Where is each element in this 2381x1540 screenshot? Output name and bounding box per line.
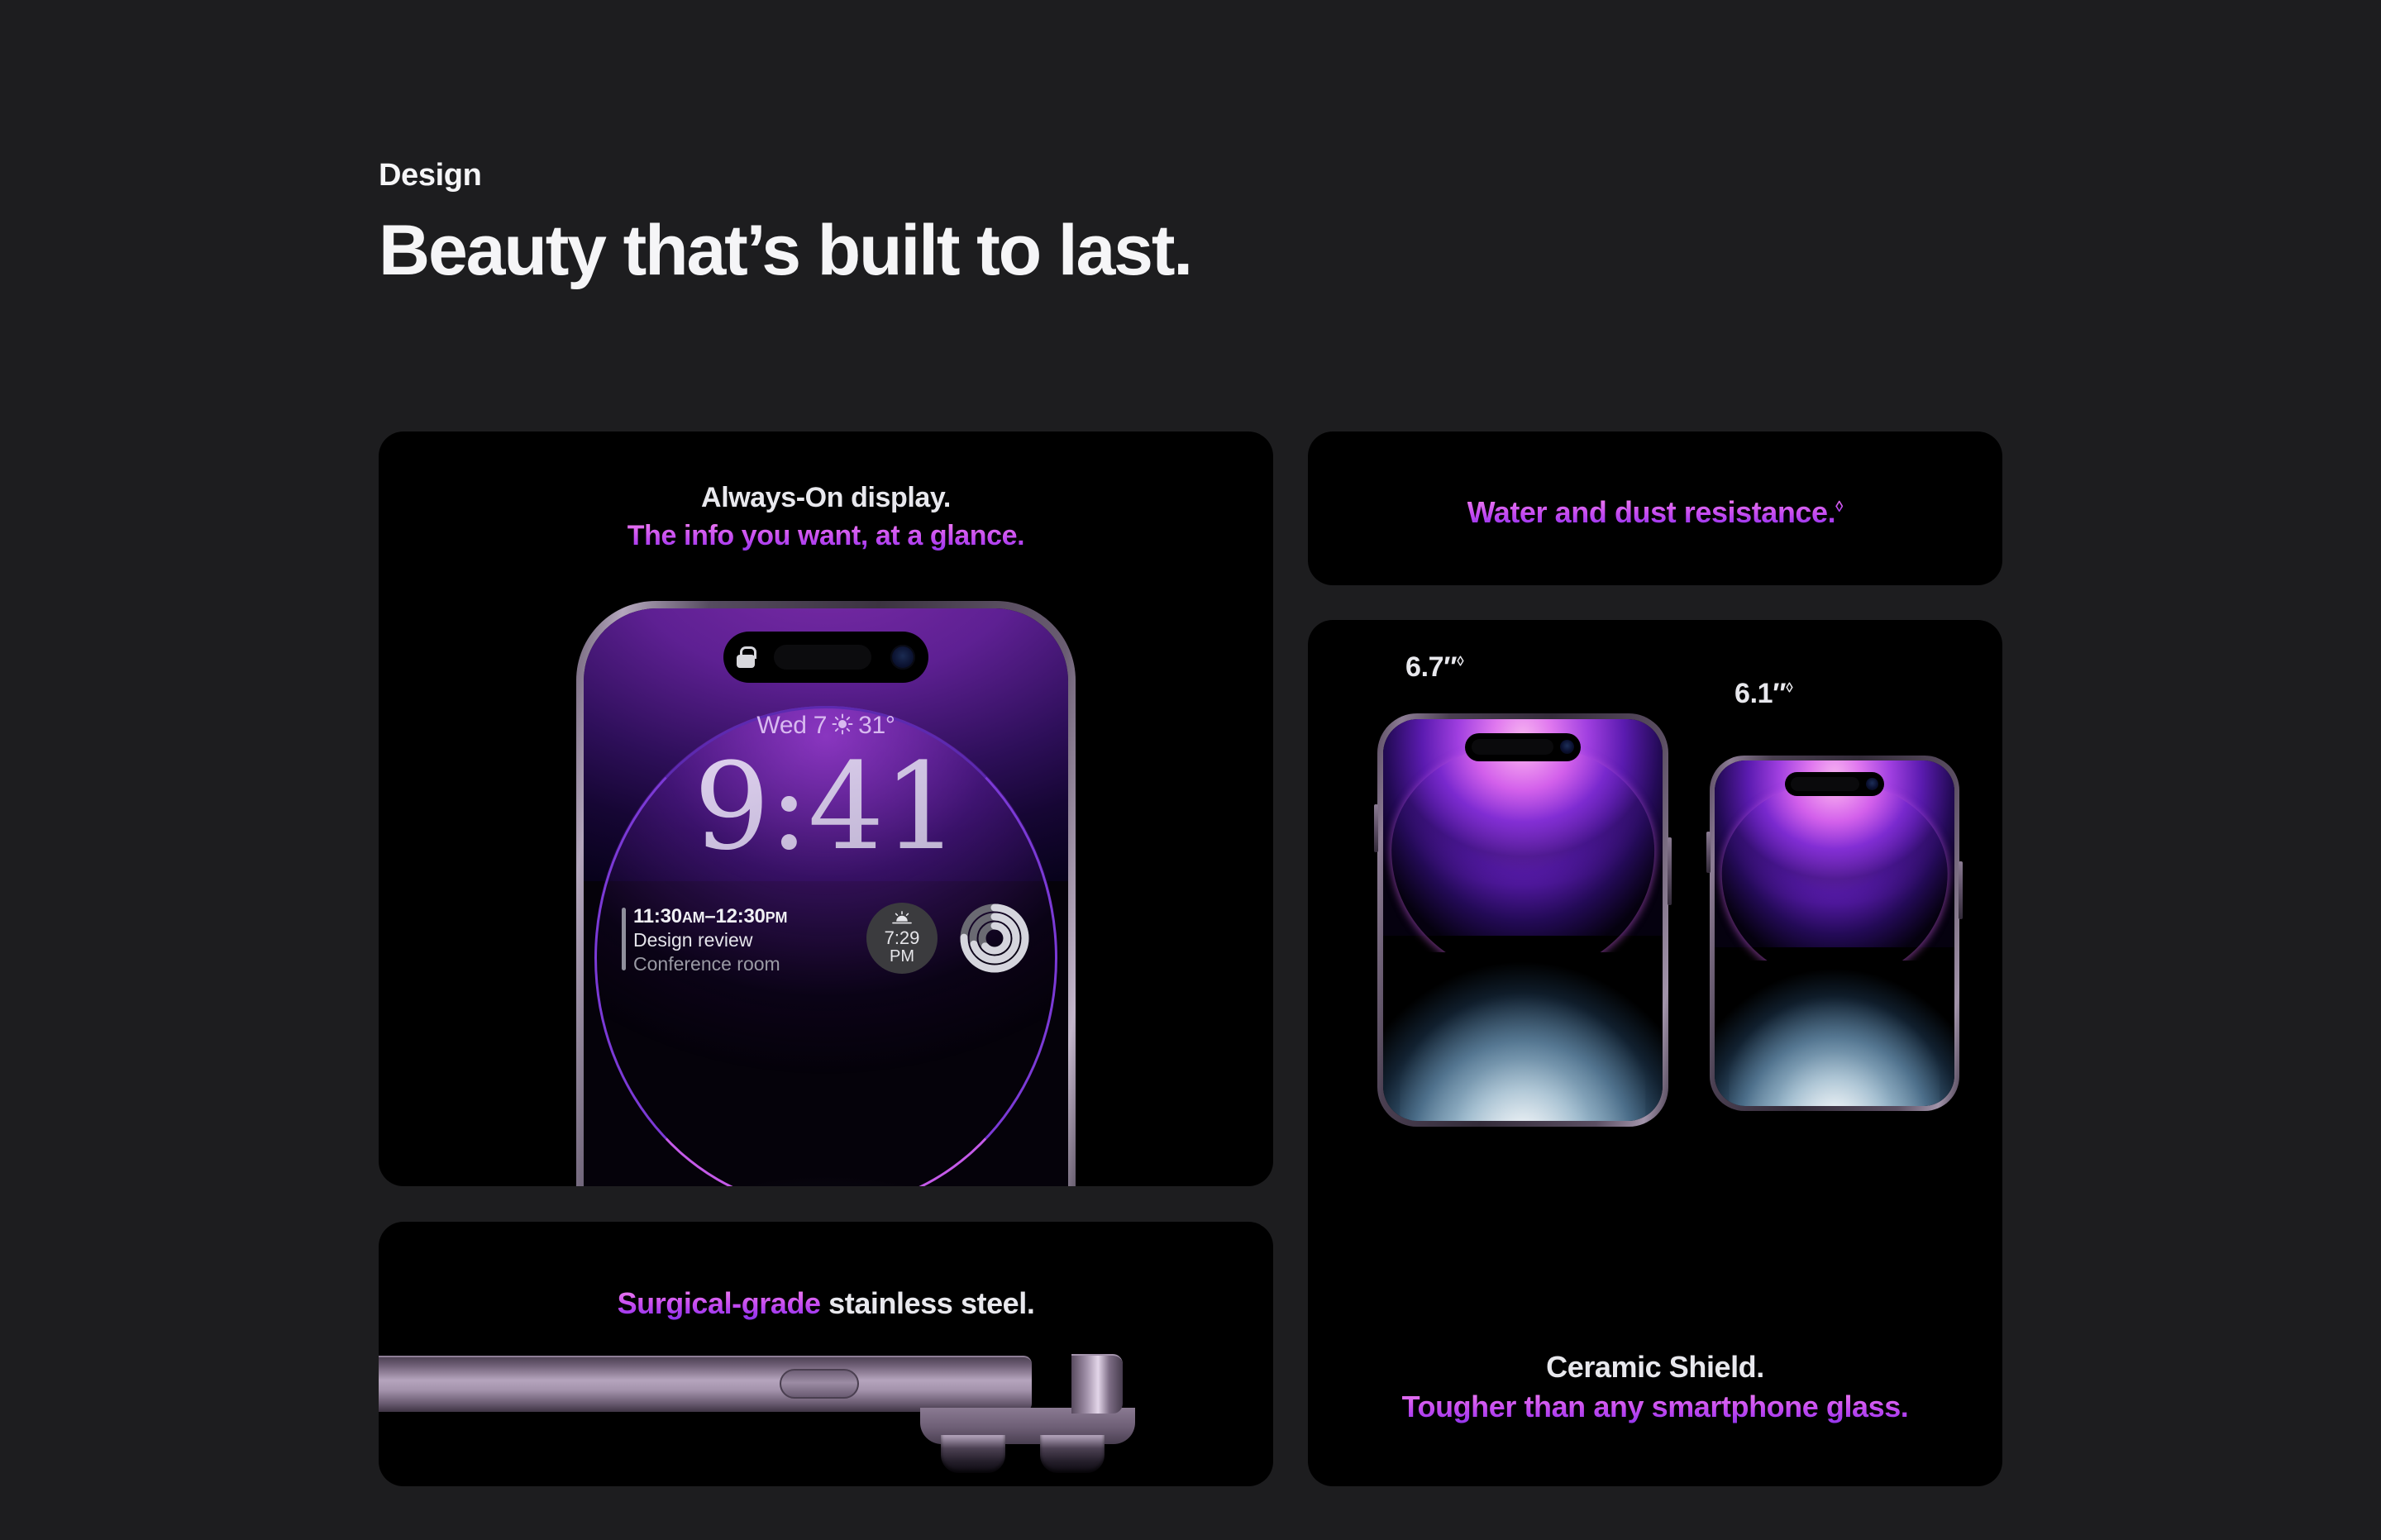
feature-card-grid: Always-On display. The info you want, at… [379, 431, 2002, 1486]
phone-corner-edge [1071, 1354, 1123, 1414]
iphone-screen: Wed 731° 9:41 11:30AM–12:30PM Design rev… [584, 608, 1068, 1186]
calendar-time-separator: – [704, 905, 715, 927]
stainless-steel-caption: Surgical-grade stainless steel. [379, 1284, 1273, 1323]
island-sensor-pill-small [1791, 777, 1859, 791]
dynamic-island [723, 632, 928, 683]
camera-lens-1 [941, 1435, 1005, 1473]
iphone-frame: Wed 731° 9:41 11:30AM–12:30PM Design rev… [576, 601, 1076, 1186]
phone-side-band [379, 1356, 1032, 1412]
lockscreen-temperature: 31° [858, 712, 895, 739]
calendar-widget[interactable]: 11:30AM–12:30PM Design review Conference… [622, 904, 787, 975]
calendar-start-ampm: AM [682, 909, 705, 926]
water-dust-resistance-caption: Water and dust resistance.◊ [1308, 493, 2002, 532]
iphone-pro-max-device [1377, 713, 1668, 1127]
calendar-end-ampm: PM [766, 909, 788, 926]
iphone-pro-max-screen [1383, 719, 1663, 1121]
lockscreen-widget-row: 11:30AM–12:30PM Design review Conference… [622, 903, 1030, 974]
caption-line-1: Ceramic Shield. [1308, 1347, 2002, 1387]
volume-button [780, 1369, 859, 1399]
sunset-widget[interactable]: 7:29 PM [866, 903, 938, 974]
display-size-labels: 6.7″◊ 6.1″◊ [1308, 620, 2002, 727]
side-button-small [1706, 832, 1711, 873]
calendar-end-time: 12:30 [715, 905, 765, 927]
calendar-start-time: 11:30 [633, 905, 682, 927]
ceramic-shield-card[interactable]: 6.7″◊ 6.1″◊ [1308, 620, 2002, 1486]
water-dust-resistance-card[interactable]: Water and dust resistance.◊ [1308, 431, 2002, 585]
caption-rest: stainless steel. [821, 1286, 1035, 1320]
caption-highlight: Surgical-grade [618, 1286, 821, 1320]
iphone-pro-screen [1715, 760, 1954, 1106]
camera-lens-2 [1040, 1435, 1105, 1473]
calendar-event-location: Conference room [633, 952, 787, 976]
always-on-phone-image: Wed 731° 9:41 11:30AM–12:30PM Design rev… [379, 584, 1273, 1186]
footnote-marker-small[interactable]: ◊ [1786, 679, 1792, 695]
stainless-steel-card[interactable]: Surgical-grade stainless steel. [379, 1222, 1273, 1486]
footnote-marker[interactable]: ◊ [1835, 498, 1843, 515]
sunset-icon [891, 911, 913, 929]
front-camera-icon [890, 645, 915, 670]
caption-line-2: Tougher than any smartphone glass. [1308, 1387, 2002, 1427]
size-value-large: 6.7″ [1405, 651, 1457, 683]
lockscreen-date: Wed 7 [756, 712, 827, 739]
calendar-time-range: 11:30AM–12:30PM [633, 904, 787, 928]
dynamic-island-large [1465, 733, 1581, 761]
always-on-display-card[interactable]: Always-On display. The info you want, at… [379, 431, 1273, 1186]
page-header: Design Beauty that’s built to last. [379, 157, 1191, 288]
section-eyebrow: Design [379, 157, 1191, 195]
lock-icon [737, 646, 755, 668]
display-size-large: 6.7″◊ [1405, 651, 1464, 684]
dynamic-island-small [1785, 772, 1884, 796]
side-button-large [1374, 804, 1378, 852]
island-sensor-pill-large [1472, 739, 1553, 756]
sunset-time: 7:29 [885, 929, 920, 947]
sunset-period: PM [890, 947, 914, 965]
activity-rings-icon[interactable] [959, 903, 1030, 974]
size-value-small: 6.1″ [1734, 678, 1786, 709]
power-button-large [1668, 837, 1672, 905]
front-camera-icon-small [1866, 778, 1878, 790]
front-camera-icon-large [1560, 740, 1574, 754]
wallpaper-dome-large [1391, 743, 1654, 976]
stainless-steel-band-image [379, 1321, 1273, 1486]
caption-text: Water and dust resistance. [1467, 495, 1836, 529]
island-sensor-pill [774, 645, 871, 670]
page-title: Beauty that’s built to last. [379, 213, 1191, 288]
ceramic-shield-caption: Ceramic Shield. Tougher than any smartph… [1308, 1347, 2002, 1427]
power-button-small [1959, 861, 1963, 919]
always-on-display-caption: Always-On display. The info you want, at… [379, 479, 1273, 555]
display-size-small: 6.1″◊ [1734, 678, 1793, 710]
lockscreen-clock: 9:41 [584, 747, 1068, 867]
wallpaper-dome-small [1722, 781, 1948, 981]
calendar-event-title: Design review [633, 928, 787, 952]
iphone-pro-device [1710, 756, 1959, 1111]
caption-line-2: The info you want, at a glance. [379, 517, 1273, 555]
caption-line-1: Always-On display. [379, 479, 1273, 517]
footnote-marker-large[interactable]: ◊ [1457, 653, 1463, 669]
